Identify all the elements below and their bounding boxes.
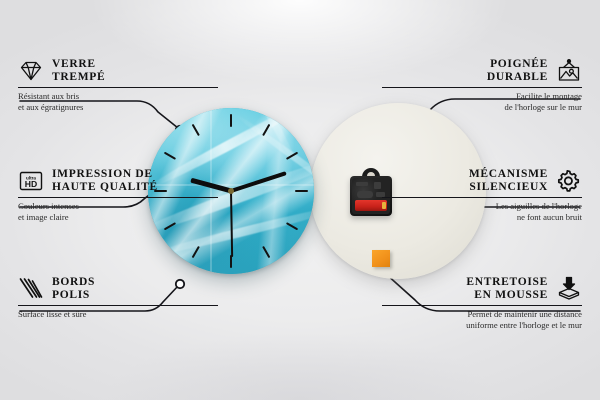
callout-header: VERRE TREMPÉ xyxy=(18,58,218,84)
callout-divider xyxy=(382,87,582,88)
callout-header: ENTRETOISE EN MOUSSE xyxy=(382,276,582,302)
callout-description: Couleurs intenses et image claire xyxy=(18,201,218,222)
clock-hand-cap xyxy=(228,188,234,194)
callout-divider xyxy=(382,305,582,306)
callout-poignee-durable: POIGNÉE DURABLE Facilite le montage de l… xyxy=(382,58,582,112)
diamond-icon xyxy=(18,58,44,84)
ultra-hd-icon: ultra HD xyxy=(18,168,44,194)
movement-detail xyxy=(357,191,373,198)
callout-verre-trempe: VERRE TREMPÉ Résistant aux bris et aux é… xyxy=(18,58,218,112)
callout-title: VERRE TREMPÉ xyxy=(52,58,105,84)
gear-icon xyxy=(556,168,582,194)
callout-bords-polis: BORDS POLIS Surface lisse et sûre xyxy=(18,276,218,320)
callout-description: Les aiguilles de l'horloge ne font aucun… xyxy=(382,201,582,222)
callout-divider xyxy=(18,305,218,306)
callout-description: Surface lisse et sûre xyxy=(18,309,218,319)
callout-divider xyxy=(382,197,582,198)
polished-edges-icon xyxy=(18,276,44,302)
callout-divider xyxy=(18,87,218,88)
callout-header: ultra HD IMPRESSION DE HAUTE QUALITÉ xyxy=(18,168,218,194)
callout-title: MÉCANISME SILENCIEUX xyxy=(469,168,548,194)
clock-tick xyxy=(295,190,308,192)
infographic-canvas: VERRE TREMPÉ Résistant aux bris et aux é… xyxy=(0,0,600,400)
callout-description: Permet de maintenir une distance uniform… xyxy=(382,309,582,330)
callout-entretoise-en-mousse: ENTRETOISE EN MOUSSE Permet de maintenir… xyxy=(382,276,582,330)
callout-title: ENTRETOISE EN MOUSSE xyxy=(466,276,548,302)
callout-header: MÉCANISME SILENCIEUX xyxy=(382,168,582,194)
callout-description: Résistant aux bris et aux égratignures xyxy=(18,91,218,112)
callout-divider xyxy=(18,197,218,198)
callout-title: IMPRESSION DE HAUTE QUALITÉ xyxy=(52,168,158,194)
callout-title: POIGNÉE DURABLE xyxy=(487,58,548,84)
foam-spacer-pad xyxy=(372,250,390,267)
hanging-frame-icon xyxy=(556,58,582,84)
movement-detail xyxy=(356,182,368,186)
clock-tick xyxy=(230,114,232,127)
callout-header: BORDS POLIS xyxy=(18,276,218,302)
svg-text:HD: HD xyxy=(25,179,37,189)
callout-header: POIGNÉE DURABLE xyxy=(382,58,582,84)
callout-mecanisme-silencieux: MÉCANISME SILENCIEUX Les aiguilles de l'… xyxy=(382,168,582,222)
callout-impression-haute-qualite: ultra HD IMPRESSION DE HAUTE QUALITÉ Cou… xyxy=(18,168,218,222)
callout-title: BORDS POLIS xyxy=(52,276,95,302)
foam-spacer-icon xyxy=(556,276,582,302)
movement-detail xyxy=(374,182,381,189)
callout-description: Facilite le montage de l'horloge sur le … xyxy=(382,91,582,112)
